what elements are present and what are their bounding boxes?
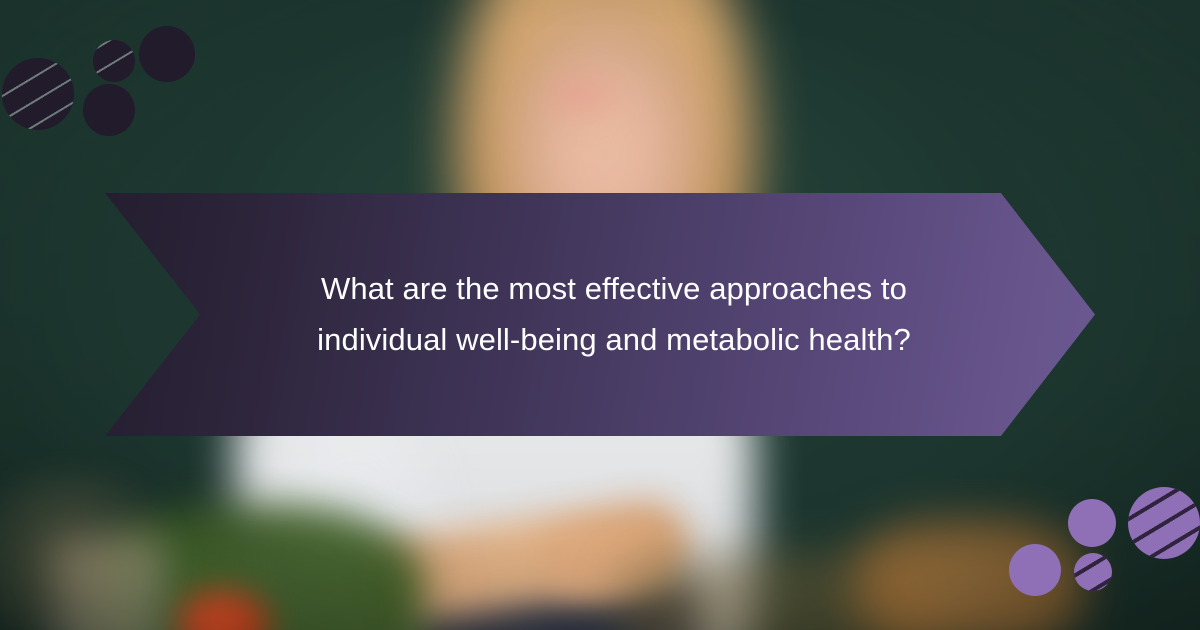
deco-circle-bottom-right-small-striped [1074,553,1112,591]
stripe-pattern [1128,487,1200,559]
page-canvas: What are the most effective approaches t… [0,0,1200,630]
question-headline: What are the most effective approaches t… [199,264,1029,364]
deco-circle-top-left-medium-plain-2 [139,26,195,82]
question-banner: What are the most effective approaches t… [105,193,1095,436]
deco-circle-top-left-medium-plain [83,84,135,136]
deco-circle-top-left-small-striped [93,40,135,82]
deco-circle-bottom-right-medium-plain-2 [1009,544,1061,596]
banner-content: What are the most effective approaches t… [199,264,1029,364]
stripe-pattern [1074,553,1112,591]
deco-circle-bottom-right-large-striped [1128,487,1200,559]
stripe-pattern [93,40,135,82]
stripe-pattern [2,58,74,130]
deco-circle-bottom-right-medium-plain [1068,499,1116,547]
deco-circle-top-left-large-striped [2,58,74,130]
